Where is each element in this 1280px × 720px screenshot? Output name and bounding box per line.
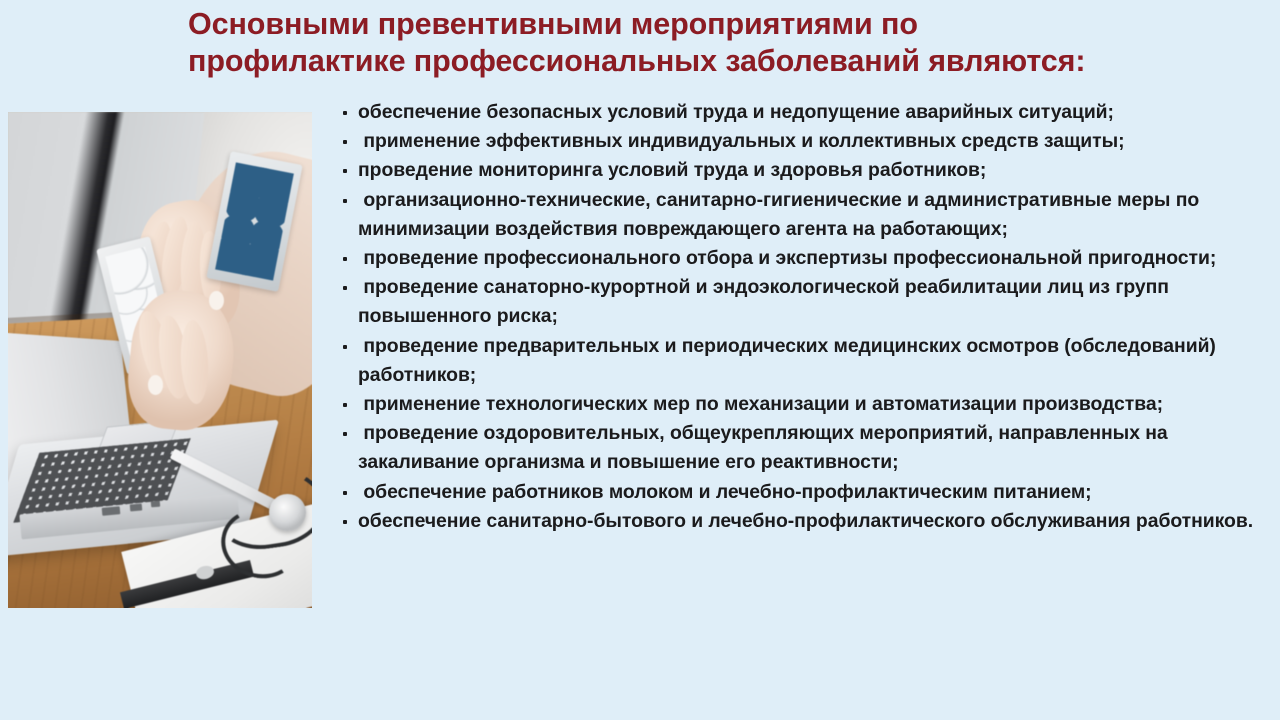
list-item: проведение предварительных и периодическ… bbox=[336, 332, 1266, 390]
photo-stethoscope-bell bbox=[269, 494, 305, 531]
list-item: обеспечение работников молоком и лечебно… bbox=[336, 478, 1266, 507]
list-item: применение эффективных индивидуальных и … bbox=[336, 127, 1266, 156]
page-title: Основными превентивными мероприятиями по… bbox=[188, 6, 1188, 80]
list-item: обеспечение санитарно-бытового и лечебно… bbox=[336, 507, 1266, 536]
presentation-slide: Основными превентивными мероприятиями по… bbox=[0, 0, 1280, 720]
photo-fingernail bbox=[209, 291, 224, 311]
list-item: проведение оздоровительных, общеукрепляю… bbox=[336, 419, 1266, 477]
list-item: проведение мониторинга условий труда и з… bbox=[336, 156, 1266, 185]
photo-laptop-port bbox=[151, 500, 161, 507]
photo-laptop-port bbox=[102, 506, 121, 515]
slide-title-block: Основными превентивными мероприятиями по… bbox=[188, 6, 1188, 80]
preventive-measures-list: обеспечение безопасных условий труда и н… bbox=[336, 98, 1266, 536]
list-item: организационно-технические, санитарно-ги… bbox=[336, 186, 1266, 244]
photo-fingernail bbox=[148, 375, 163, 395]
list-item: проведение санаторно-курортной и эндоэко… bbox=[336, 273, 1266, 331]
photo-laptop-port bbox=[129, 503, 142, 511]
list-item: проведение профессионального отбора и эк… bbox=[336, 244, 1266, 273]
list-item: обеспечение безопасных условий труда и н… bbox=[336, 98, 1266, 127]
list-item: применение технологических мер по механи… bbox=[336, 390, 1266, 419]
illustration-photo bbox=[8, 112, 312, 608]
